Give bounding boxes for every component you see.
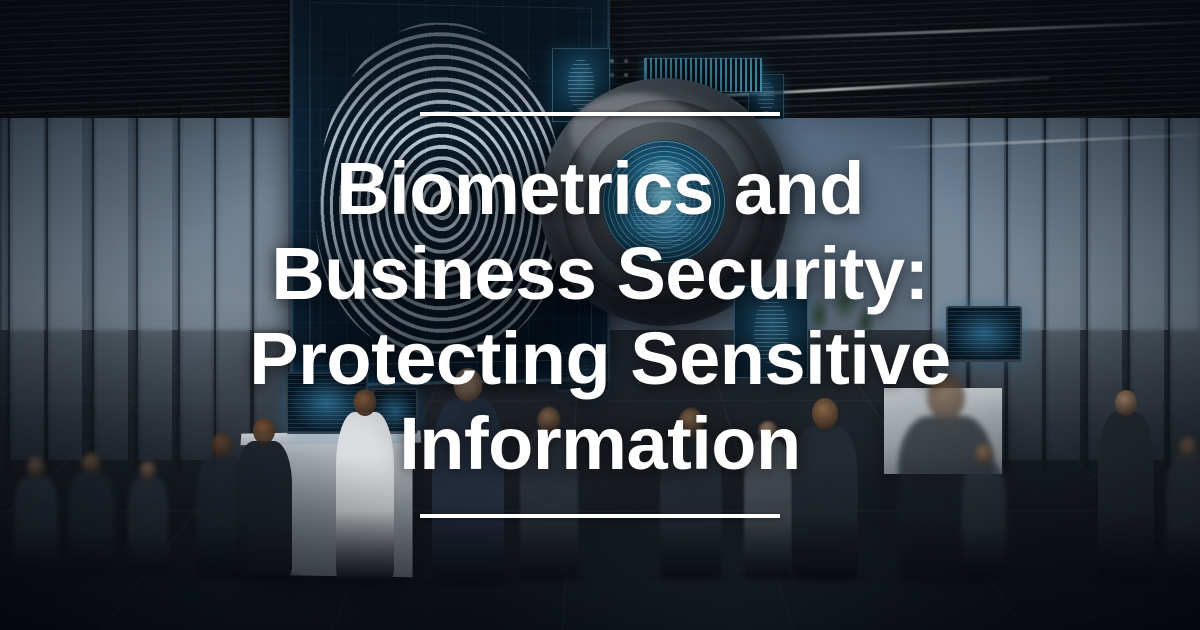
page-title-line: Information — [249, 401, 950, 486]
page-title-line: Protecting Sensitive — [249, 316, 950, 401]
page-title: Biometrics andBusiness Security:Protecti… — [249, 146, 950, 486]
page-title-line: Business Security: — [249, 231, 950, 316]
title-block: Biometrics andBusiness Security:Protecti… — [0, 0, 1200, 630]
divider-bottom — [420, 514, 780, 518]
divider-top — [420, 112, 780, 116]
hero-banner: Biometrics andBusiness Security:Protecti… — [0, 0, 1200, 630]
page-title-line: Biometrics and — [249, 146, 950, 231]
